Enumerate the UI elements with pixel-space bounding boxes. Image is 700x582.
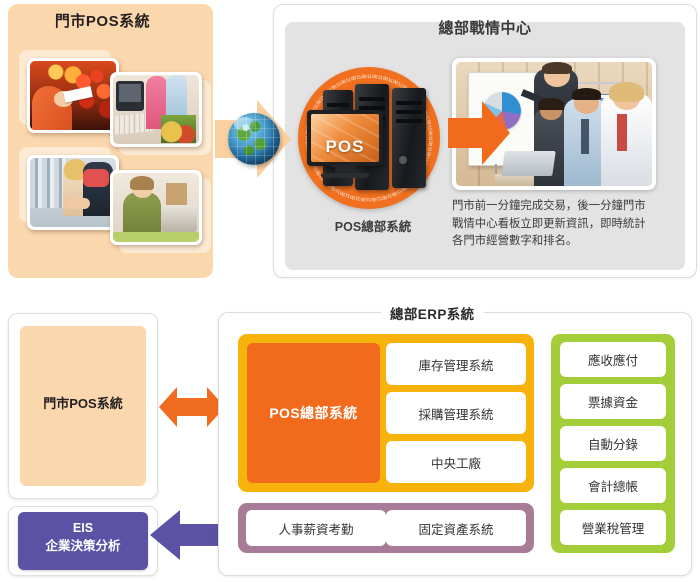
- erp-module-central-factory[interactable]: 中央工廠: [386, 441, 526, 483]
- erp-module-business-tax[interactable]: 營業稅管理: [560, 510, 666, 545]
- eis-line-1: EIS: [18, 519, 148, 537]
- pos-monitor-label: POS: [311, 137, 379, 157]
- photo-store-cashier: [110, 170, 202, 245]
- war-room-title: 總部戰情中心: [285, 17, 685, 38]
- pos-monitor-icon: POS: [307, 110, 383, 178]
- pos-hq-caption: POS總部系統: [293, 216, 453, 235]
- erp-module-general-ledger[interactable]: 會計總帳: [560, 468, 666, 503]
- war-room-description: 門市前一分鐘完成交易，後一分鐘門市戰情中心看板立即更新資訊，即時統計各門市經營數…: [452, 198, 656, 251]
- erp-module-notes-funds[interactable]: 票據資金: [560, 384, 666, 419]
- erp-module-fixed-assets[interactable]: 固定資產系統: [386, 510, 526, 546]
- globe-icon: [228, 113, 280, 165]
- erp-panel-title: 總部ERP系統: [381, 303, 484, 323]
- erp-module-receivable-payable[interactable]: 應收應付: [560, 342, 666, 377]
- photo-boutique-payment: [27, 155, 119, 230]
- eis-line-2: 企業決策分析: [18, 537, 148, 555]
- left-arrow-icon: [150, 508, 228, 562]
- war-room-arrow-icon: [448, 100, 510, 166]
- store-pos-box-label: 門市POS系統: [20, 393, 146, 412]
- erp-module-purchasing[interactable]: 採購管理系統: [386, 392, 526, 434]
- left-right-arrow-icon: [159, 385, 225, 429]
- erp-module-inventory[interactable]: 庫存管理系統: [386, 343, 526, 385]
- erp-module-hr-payroll[interactable]: 人事薪資考勤: [246, 510, 386, 546]
- erp-module-auto-journal[interactable]: 自動分錄: [560, 426, 666, 461]
- erp-pos-hq-box: POS總部系統: [247, 343, 380, 483]
- eis-box-label: EIS 企業決策分析: [18, 519, 148, 555]
- photo-supermarket-checkout: [110, 72, 202, 147]
- photo-fruit-market: [27, 58, 119, 133]
- pos-hq-server-graphic: 1001100110011001100110011001100110011001…: [293, 62, 453, 212]
- erp-pos-hq-label: POS總部系統: [269, 403, 357, 423]
- diagram-canvas: 門市POS系統 總部戰情中心 100110: [0, 0, 700, 582]
- store-pos-panel-title: 門市POS系統: [0, 10, 205, 31]
